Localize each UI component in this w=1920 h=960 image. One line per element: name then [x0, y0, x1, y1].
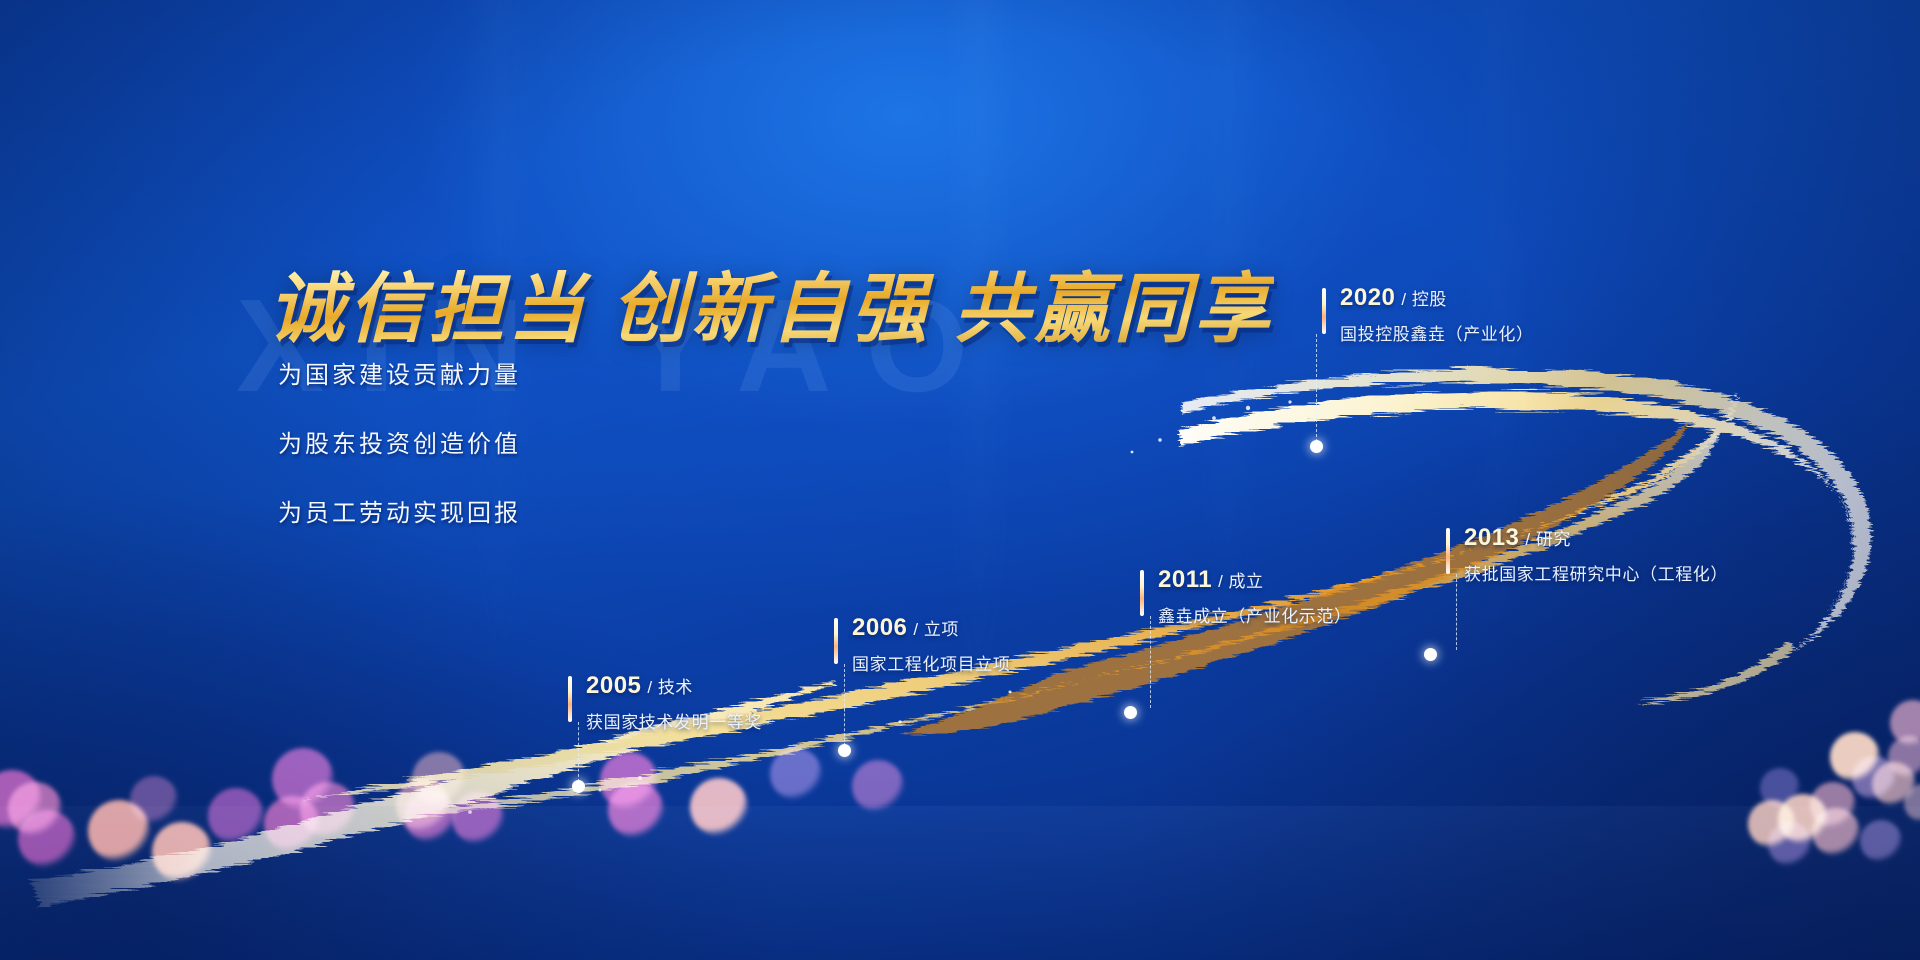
bokeh-light [208, 788, 264, 844]
timeline-accent-bar [1446, 528, 1450, 574]
timeline-connector-line [1456, 574, 1457, 650]
timeline-year: 2011/ 成立 [1158, 566, 1264, 594]
timeline-year-number: 2006 [852, 614, 907, 641]
timeline-year: 2006/ 立项 [852, 614, 959, 642]
timeline-year-number: 2013 [1464, 524, 1519, 551]
page-title: 诚信担当 创新自强 共赢同享 [268, 247, 1274, 357]
timeline-connector-line [1150, 616, 1151, 708]
timeline-year-number: 2011 [1158, 566, 1212, 593]
timeline-category: 控股 [1407, 290, 1447, 309]
slogan-list: 为国家建设贡献力量 为股东投资创造价值 为员工劳动实现回报 [278, 355, 521, 562]
timeline-year-number: 2020 [1340, 284, 1395, 311]
bokeh-light [300, 782, 356, 838]
timeline-year: 2013/ 研究 [1464, 524, 1571, 552]
timeline-year: 2005/ 技术 [586, 672, 693, 700]
timeline-description: 国投控股鑫垚（产业化） [1340, 320, 1534, 345]
timeline-description: 鑫垚成立（产业化示范） [1158, 602, 1352, 627]
timeline-accent-bar [834, 618, 838, 664]
timeline-accent-bar [1322, 288, 1326, 334]
bokeh-light [1860, 820, 1902, 862]
bokeh-light [852, 760, 904, 812]
bokeh-light [130, 776, 178, 824]
bokeh-light [18, 810, 76, 868]
timeline-year-number: 2005 [586, 672, 641, 699]
timeline-category: 研究 [1531, 530, 1571, 549]
timeline-connector-line [1316, 334, 1317, 442]
bokeh-light [770, 748, 822, 800]
timeline-description: 国家工程化项目立项 [852, 650, 1010, 675]
timeline-category: 成立 [1223, 572, 1263, 591]
timeline-year: 2020/ 控股 [1340, 284, 1447, 312]
slogan-line-3: 为员工劳动实现回报 [278, 493, 521, 528]
timeline-marker-dot[interactable] [1310, 440, 1323, 453]
timeline-category: 技术 [653, 678, 693, 697]
slogan-line-1: 为国家建设贡献力量 [278, 355, 521, 390]
timeline-connector-line [844, 664, 845, 746]
timeline-category: 立项 [919, 620, 959, 639]
timeline-marker-dot[interactable] [1124, 706, 1137, 719]
bokeh-light [412, 752, 466, 806]
bokeh-light [452, 792, 504, 844]
bokeh-light [1812, 808, 1860, 856]
timeline-connector-line [578, 722, 579, 782]
bokeh-light [690, 778, 748, 836]
timeline-accent-bar [568, 676, 572, 722]
timeline-marker-dot[interactable] [572, 780, 585, 793]
poster-canvas: XIN YAO 诚信担当 创新自强 共赢同享 为国家建设贡献力量 为股东投资创造… [0, 0, 1920, 960]
slogan-line-2: 为股东投资创造价值 [278, 424, 521, 459]
timeline-description: 获国家技术发明一等奖 [586, 708, 762, 733]
timeline-marker-dot[interactable] [1424, 648, 1437, 661]
timeline-accent-bar [1140, 570, 1144, 616]
bokeh-light [152, 822, 212, 882]
timeline-marker-dot[interactable] [838, 744, 851, 757]
bokeh-light [608, 782, 664, 838]
timeline-description: 获批国家工程研究中心（工程化） [1464, 560, 1728, 585]
